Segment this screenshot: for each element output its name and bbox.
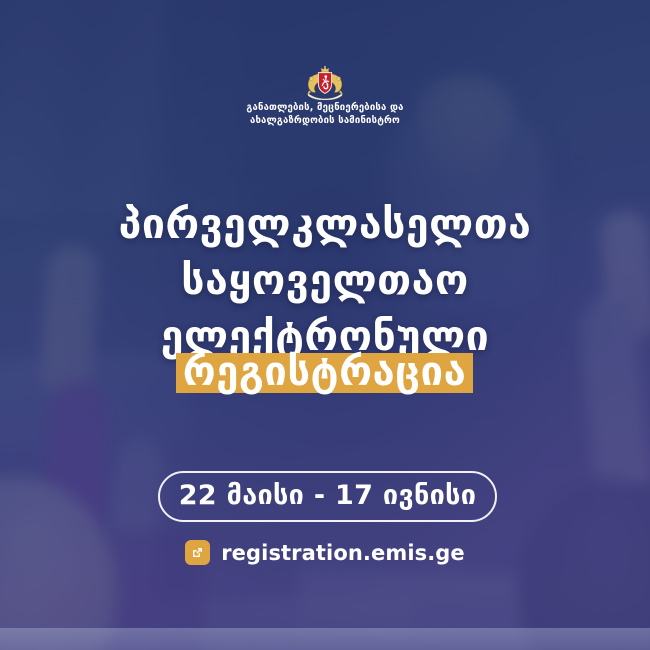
external-link-glyph	[190, 545, 205, 560]
external-link-icon[interactable]	[185, 540, 210, 565]
poster-content: განათლების, მეცნიერებისა და ახალგაზრდობი…	[0, 0, 650, 650]
registration-date-pill: 22 მაისი - 17 ივნისი	[158, 471, 497, 522]
headline-highlight-text: რეგისტრაცია	[183, 352, 466, 392]
ministry-name: განათლების, მეცნიერებისა და ახალგაზრდობი…	[0, 101, 650, 127]
headline: პირველკლასელთა საყოველთაო ელექტრონული	[0, 196, 650, 364]
georgia-coat-of-arms-icon	[299, 66, 351, 100]
poster-canvas: განათლების, მეცნიერებისა და ახალგაზრდობი…	[0, 0, 650, 650]
emblem-container	[0, 66, 650, 100]
registration-date-text: 22 მაისი - 17 ივნისი	[179, 482, 477, 509]
website-row[interactable]: registration.emis.ge	[0, 540, 650, 565]
headline-highlight-banner: რეგისტრაცია	[176, 353, 473, 393]
website-url[interactable]: registration.emis.ge	[221, 541, 465, 565]
ministry-line-2: ახალგაზრდობის სამინისტრო	[0, 114, 650, 127]
headline-line-1: პირველკლასელთა	[0, 196, 650, 252]
headline-line-2: საყოველთაო	[0, 252, 650, 308]
ministry-line-1: განათლების, მეცნიერებისა და	[0, 101, 650, 114]
